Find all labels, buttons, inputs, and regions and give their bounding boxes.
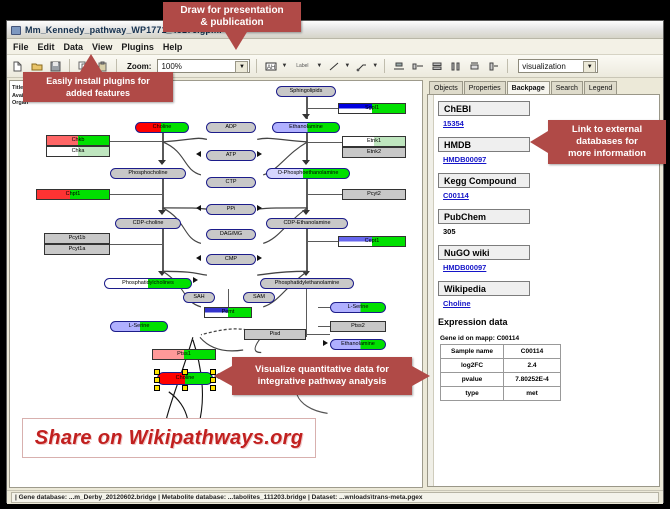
db-header-pubchem: PubChem	[438, 209, 530, 224]
menu-item-edit[interactable]: Edit	[38, 42, 55, 52]
line-icon[interactable]	[326, 59, 341, 74]
tab-search[interactable]: Search	[551, 81, 583, 94]
chevron-down-icon[interactable]: ▼	[583, 61, 596, 73]
toolbar-separator	[256, 59, 257, 73]
table-row: Sample nameC00114	[441, 345, 561, 359]
edge-pcyt1-anchor	[110, 244, 162, 245]
db-value-wikipedia[interactable]: Choline	[443, 299, 659, 308]
scrollbar[interactable]	[428, 95, 434, 486]
node-label: SAH	[193, 295, 204, 301]
node-label: Ptss1	[177, 352, 191, 358]
metabolite-node-o-phosphoethanolamine[interactable]: O-Phosphoethanolamine	[266, 168, 350, 179]
tab-legend[interactable]: Legend	[584, 81, 617, 94]
pathvisio-icon	[10, 24, 21, 35]
visualize-callout: Visualize quantitative data for integrat…	[232, 357, 412, 395]
db-header-nugo-wiki: NuGO wiki	[438, 245, 530, 260]
expr-key: log2FC	[441, 359, 504, 373]
edge-chk-anchor	[110, 141, 162, 142]
chevron-down-icon[interactable]: ▼	[372, 63, 378, 69]
share-callout-text: Share on Wikipathways.org	[35, 427, 304, 450]
label-icon[interactable]: Label	[291, 59, 313, 74]
edge-ptss2-anchor	[318, 326, 330, 327]
toolbar-separator	[507, 59, 508, 73]
metabolite-node-choline-top[interactable]: Choline	[135, 122, 189, 133]
visualize-callout-line1: Visualize quantitative data for	[255, 364, 389, 376]
link-callout: Link to external databases for more info…	[548, 120, 666, 164]
node-label: CDP-Ethanolamine	[283, 221, 330, 227]
metabolite-node-sphingolipids[interactable]: Sphingolipids	[276, 86, 336, 97]
node-label: Ptss2	[351, 324, 365, 330]
side-panel-tabs: ObjectsPropertiesBackpageSearchLegend	[425, 80, 661, 94]
expression-table: Sample nameC00114log2FC2.4pvalue7.80252E…	[440, 344, 561, 401]
zoom-label: Zoom:	[127, 62, 151, 71]
metabolite-node-phosphocholine[interactable]: Phosphocholine	[110, 168, 186, 179]
arrow-right-icon	[193, 277, 198, 283]
gene-node-chka[interactable]: Chka	[46, 146, 110, 157]
statusbar-text: | Gene database: ...m_Derby_20120602.bri…	[11, 492, 659, 503]
edge-cdpcholine-pc	[162, 229, 164, 272]
edge-etn-pen	[306, 133, 308, 163]
gene-node-pemt[interactable]: Pemt	[204, 307, 252, 318]
visualize-callout-arrow-right-icon	[412, 366, 430, 386]
expr-value: met	[504, 387, 561, 401]
plugins-callout-line2: added features	[66, 87, 130, 99]
arrow-left-icon	[196, 151, 201, 157]
chevron-down-icon[interactable]: ▼	[281, 63, 287, 69]
plugins-callout-arrow-icon	[80, 54, 102, 72]
visualize-callout-line2: integrative pathway analysis	[258, 376, 387, 388]
node-label: Ethanolamine	[341, 342, 375, 348]
link-callout-line1: Link to external	[572, 124, 642, 136]
draw-callout-arrow-icon	[225, 32, 247, 50]
db-value-kegg-compound[interactable]: C00114	[443, 191, 659, 200]
arrow-right-icon	[257, 205, 262, 211]
metabolite-node-phosphatidylcholines[interactable]: Phosphatidylcholines	[104, 278, 192, 289]
edge-pisd-link	[306, 334, 330, 335]
edge-choline-phosphocholine	[162, 133, 164, 163]
gene-node-etnk1[interactable]: Etnk1	[342, 136, 406, 147]
metabolite-node-atp[interactable]: ATP	[206, 150, 256, 161]
node-label: Choline	[176, 376, 195, 382]
metabolite-node-l-serine-right[interactable]: L-Serine	[330, 302, 386, 313]
arrow-right-icon	[257, 255, 262, 261]
draw-callout-line1: Draw for presentation	[180, 5, 283, 17]
toolbar-separator	[384, 59, 385, 73]
node-label: Ethanolamine	[289, 125, 323, 131]
node-label: Sphingolipids	[290, 89, 323, 95]
statusbar: | Gene database: ...m_Derby_20120602.bri…	[7, 490, 663, 504]
node-label: DAG/MG	[220, 232, 242, 238]
metabolite-node-ctp[interactable]: CTP	[206, 177, 256, 188]
edge-pe-pisd	[306, 289, 307, 337]
arrow-right-icon	[257, 151, 262, 157]
expr-key: pvalue	[441, 373, 504, 387]
distribute-icon[interactable]	[448, 59, 463, 74]
node-label: Chpt1	[66, 192, 81, 198]
tab-properties[interactable]: Properties	[464, 81, 506, 94]
gene-node-ptss2[interactable]: Ptss2	[330, 321, 386, 332]
arrow-down-icon	[302, 160, 310, 165]
metabolite-node-cdp-ethanolamine[interactable]: CDP-Ethanolamine	[266, 218, 348, 229]
draw-callout-line2: & publication	[200, 17, 263, 29]
menu-item-file[interactable]: File	[13, 42, 29, 52]
gene-node-pcyt1a[interactable]: Pcyt1a	[44, 244, 110, 255]
metabolite-node-cmp[interactable]: CMP	[206, 254, 256, 265]
node-label: Phosphocholine	[128, 171, 167, 177]
arrow-left-icon	[196, 205, 201, 211]
expr-key: Sample name	[441, 345, 504, 359]
screenshot-root: Mm_Kennedy_pathway_WP1771_45176.gpml Fil…	[0, 0, 670, 509]
db-header-hmdb: HMDB	[438, 137, 530, 152]
toolbar-separator	[69, 59, 70, 73]
arrow-left-icon	[196, 255, 201, 261]
edge-pemt-anchor	[228, 289, 229, 307]
edge-phosphocholine-cdpcholine	[162, 179, 164, 211]
chevron-down-icon[interactable]: ▼	[344, 63, 350, 69]
edge-cept1-anchor	[306, 241, 338, 242]
expr-key: type	[441, 387, 504, 401]
node-label: Etnk1	[367, 139, 381, 145]
menubar: File Edit Data View Plugins Help	[7, 39, 663, 55]
anchor-line-icon[interactable]	[354, 59, 369, 74]
edge-chpt1-anchor	[110, 194, 162, 195]
plugins-callout-line1: Easily install plugins for	[46, 75, 150, 87]
metabolite-node-l-serine-left[interactable]: L-Serine	[110, 321, 168, 332]
node-label: CDP-choline	[133, 221, 164, 227]
chevron-down-icon[interactable]: ▼	[235, 61, 248, 73]
table-row: pvalue7.80252E-4	[441, 373, 561, 387]
node-label: Pisd	[270, 332, 281, 338]
expr-value: 7.80252E-4	[504, 373, 561, 387]
node-label: Phosphatidylcholines	[122, 281, 174, 287]
node-label: Etnk2	[367, 150, 381, 156]
toolbar-separator	[116, 59, 117, 73]
table-row: log2FC2.4	[441, 359, 561, 373]
visualization-combobox[interactable]: visualization ▼	[518, 59, 598, 73]
node-label: Pcyt1b	[69, 236, 86, 242]
zoom-combobox[interactable]: 100% ▼	[157, 59, 250, 73]
db-header-chebi: ChEBI	[438, 101, 530, 116]
chevron-down-icon[interactable]: ▼	[316, 63, 322, 69]
draw-callout: Draw for presentation & publication	[163, 2, 301, 32]
metabolite-node-ethanolamine-right[interactable]: Ethanolamine	[330, 339, 386, 350]
arrow-down-icon	[158, 160, 166, 165]
node-label: O-Phosphoethanolamine	[278, 171, 339, 177]
node-label: Cept1	[365, 239, 380, 245]
node-label: SAM	[253, 295, 265, 301]
menu-item-data[interactable]: Data	[64, 42, 84, 52]
node-label: Choline	[153, 125, 172, 131]
gene-node-sgpl1[interactable]: Sgpl1	[338, 103, 406, 114]
arrow-down-icon	[158, 271, 166, 276]
node-label: Sgpl1	[365, 106, 379, 112]
node-label: CMP	[225, 257, 237, 263]
edge-cdpetn-pe	[306, 229, 308, 272]
edge-pcyt2-anchor	[306, 194, 342, 195]
db-header-kegg-compound: Kegg Compound	[438, 173, 530, 188]
metabolite-node-sah[interactable]: SAH	[183, 292, 215, 303]
share-callout: Share on Wikipathways.org	[22, 418, 316, 458]
expression-data-heading: Expression data	[438, 317, 659, 327]
visualize-callout-arrow-left-icon	[214, 366, 232, 386]
table-row: typemet	[441, 387, 561, 401]
gene-node-ptss1[interactable]: Ptss1	[152, 349, 216, 360]
stack-icon[interactable]	[429, 59, 444, 74]
expr-value: C00114	[504, 345, 561, 359]
node-label: L-Serine	[348, 305, 369, 311]
gene-node-cept1[interactable]: Cept1	[338, 236, 406, 247]
node-label: Pcyt2	[367, 192, 381, 198]
node-label: Phosphatidylethanolamine	[275, 281, 340, 287]
group-icon[interactable]	[410, 59, 425, 74]
arrow-down-icon	[302, 210, 310, 215]
window-titlebar: Mm_Kennedy_pathway_WP1771_45176.gpml	[7, 21, 663, 39]
metabolite-node-ethanolamine[interactable]: Ethanolamine	[272, 122, 340, 133]
db-value-nugo-wiki[interactable]: HMDB00097	[443, 263, 659, 272]
tab-objects[interactable]: Objects	[429, 81, 463, 94]
gene-node-pisd[interactable]: Pisd	[244, 329, 306, 340]
node-label: Pemt	[222, 310, 235, 316]
menu-item-help[interactable]: Help	[163, 42, 183, 52]
visualization-value: visualization	[522, 62, 566, 71]
align-icon[interactable]	[391, 59, 406, 74]
order-icon[interactable]	[467, 59, 482, 74]
metabolite-node-phosphatidylethanolamine[interactable]: Phosphatidylethanolamine	[260, 278, 354, 289]
datanode-icon[interactable]: AH	[263, 59, 278, 74]
tab-backpage[interactable]: Backpage	[507, 81, 550, 95]
node-label: ATP	[226, 153, 236, 159]
gene-node-pcyt2[interactable]: Pcyt2	[342, 189, 406, 200]
edge-serine-right	[318, 307, 330, 308]
db-header-wikipedia: Wikipedia	[438, 281, 530, 296]
svg-text:AH: AH	[267, 65, 275, 71]
arrow-right-icon	[323, 340, 328, 346]
zoom-value: 100%	[161, 62, 181, 71]
layer-icon[interactable]	[486, 59, 501, 74]
node-label: PPi	[227, 207, 236, 213]
metabolite-node-dagmg[interactable]: DAG/MG	[206, 229, 256, 240]
arrow-down-icon	[302, 271, 310, 276]
node-label: Chkb	[72, 138, 85, 144]
node-label: ADP	[225, 125, 236, 131]
edge-sgpl1-anchor	[306, 108, 338, 109]
gene-id-line: Gene id on mapp: C00114	[440, 335, 659, 342]
db-value-pubchem: 305	[443, 227, 659, 236]
node-label: CTP	[226, 180, 237, 186]
metabolite-node-cdp-choline[interactable]: CDP-choline	[115, 218, 181, 229]
edge-etnk-anchor	[306, 142, 342, 143]
arrow-down-icon	[302, 114, 310, 119]
node-label: L-Serine	[129, 324, 150, 330]
gene-node-chkb[interactable]: Chkb	[46, 135, 110, 146]
node-label: Pcyt1a	[69, 247, 86, 253]
link-callout-line2: databases for	[576, 136, 638, 148]
metabolite-node-ppi[interactable]: PPi	[206, 204, 256, 215]
plugins-callout: Easily install plugins for added feature…	[23, 72, 173, 102]
link-callout-arrow-icon	[530, 131, 548, 153]
expr-value: 2.4	[504, 359, 561, 373]
menu-item-view[interactable]: View	[92, 42, 112, 52]
node-label: Chka	[72, 149, 85, 155]
gene-node-pcyt1b[interactable]: Pcyt1b	[44, 233, 110, 244]
arrow-down-icon	[158, 210, 166, 215]
gene-node-chpt1[interactable]: Chpt1	[36, 189, 110, 200]
link-callout-line3: more information	[568, 148, 646, 160]
menu-item-plugins[interactable]: Plugins	[121, 42, 154, 52]
metabolite-node-adp[interactable]: ADP	[206, 122, 256, 133]
metabolite-node-sam[interactable]: SAM	[243, 292, 275, 303]
gene-node-etnk2[interactable]: Etnk2	[342, 147, 406, 158]
